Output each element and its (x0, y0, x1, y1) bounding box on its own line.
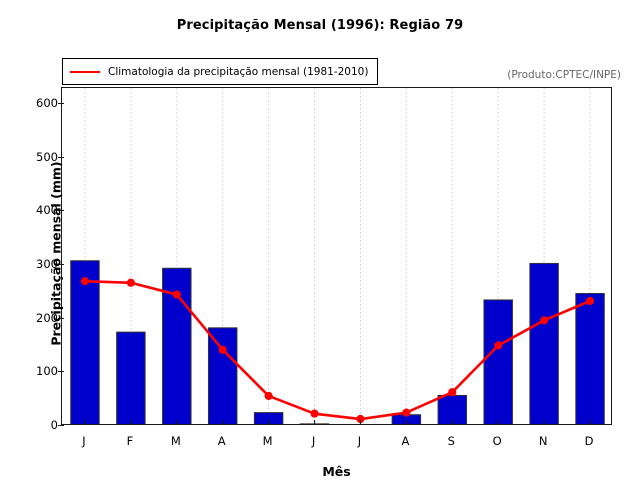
climatology-line-group (81, 277, 594, 423)
x-axis-title: Mês (61, 464, 612, 479)
x-tick-label-2: M (156, 434, 196, 448)
gridlines-group (85, 88, 590, 425)
bar-j-0 (71, 261, 99, 425)
plot-area (61, 87, 612, 425)
bar-j-5 (300, 424, 328, 425)
x-tick-label-10: N (523, 434, 563, 448)
legend: Climatologia da precipitação mensal (198… (62, 58, 378, 85)
climatology-marker-s-8 (448, 388, 456, 396)
legend-label-climatology: Climatologia da precipitação mensal (198… (108, 66, 368, 78)
climatology-marker-j-0 (81, 277, 89, 285)
climatology-marker-m-2 (173, 290, 181, 298)
climatology-polyline (85, 281, 590, 419)
y-tick-mark (58, 425, 64, 426)
plot-svg (62, 88, 612, 425)
bars-group (71, 261, 605, 425)
bar-f-1 (117, 332, 145, 425)
x-tick-label-6: J (339, 434, 379, 448)
y-tick-label: 0 (20, 418, 58, 432)
x-tick-label-8: S (431, 434, 471, 448)
y-axis-title: Precipitação mensal (mm) (49, 94, 64, 414)
climatology-marker-m-4 (265, 392, 273, 400)
climatology-marker-a-3 (219, 346, 227, 354)
climatology-marker-d-11 (586, 297, 594, 305)
climatology-marker-j-5 (310, 410, 318, 418)
bar-d-11 (576, 293, 604, 425)
x-tick-label-0: J (64, 434, 104, 448)
climatology-marker-n-10 (540, 316, 548, 324)
bar-n-10 (530, 263, 558, 425)
precipitation-chart-figure: Precipitação Mensal (1996): Região 79 Cl… (0, 0, 640, 500)
x-tick-label-1: F (110, 434, 150, 448)
climatology-marker-a-7 (402, 408, 410, 416)
x-tick-label-3: A (202, 434, 242, 448)
x-tick-label-4: M (248, 434, 288, 448)
bar-a-3 (208, 328, 236, 425)
climatology-marker-f-1 (127, 279, 135, 287)
x-tick-label-7: A (385, 434, 425, 448)
x-tick-label-11: D (569, 434, 609, 448)
x-tick-label-5: J (294, 434, 334, 448)
bar-o-9 (484, 300, 512, 425)
climatology-marker-o-9 (494, 341, 502, 349)
legend-line-swatch-climatology (70, 71, 100, 73)
producer-annotation: (Produto:CPTEC/INPE) (507, 69, 621, 81)
chart-title: Precipitação Mensal (1996): Região 79 (0, 18, 640, 33)
x-tick-label-9: O (477, 434, 517, 448)
x-axis-ticks-group (85, 420, 590, 425)
